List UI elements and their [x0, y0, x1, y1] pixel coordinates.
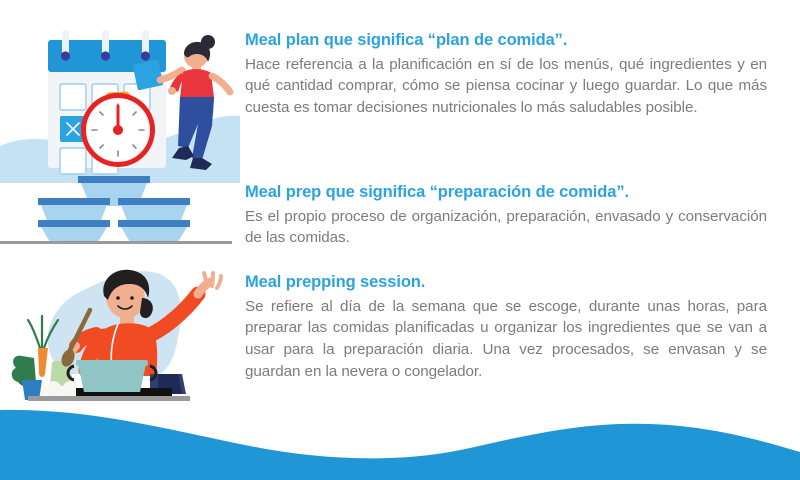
container-bottom-right [118, 220, 190, 242]
text-block-meal-plan: Meal plan que significa “plan de comida”… [245, 30, 767, 119]
eye-left [116, 296, 120, 300]
body-meal-prep: Es el propio proceso de organización, pr… [245, 206, 767, 249]
carrot [38, 348, 48, 377]
heading-meal-prep: Meal prep que significa “preparación de … [245, 182, 767, 204]
raised-hand [204, 273, 221, 288]
text-block-meal-prep: Meal prep que significa “preparación de … [245, 182, 767, 249]
woman-cooking-pot-vegetables-illustration [0, 262, 240, 412]
blue-card [133, 60, 164, 91]
infographic-page: Meal plan que significa “plan de comida”… [0, 0, 800, 480]
eye-right [130, 296, 134, 300]
bottom-wave-decoration [0, 400, 800, 480]
wave-shape [0, 410, 800, 480]
calendar-stopwatch-woman-illustration [0, 18, 240, 183]
cooking-pot [78, 364, 146, 392]
heading-meal-prepping-session: Meal prepping session. [245, 272, 767, 294]
body-meal-plan: Hace referencia a la planificación en sí… [245, 54, 767, 119]
heading-meal-plan: Meal plan que significa “plan de comida”… [245, 30, 767, 52]
body-meal-prepping-session: Se refiere al día de la semana que se es… [245, 296, 767, 382]
text-block-meal-prepping-session: Meal prepping session. Se refiere al día… [245, 272, 767, 382]
shelf-line [0, 241, 232, 244]
stacked-food-containers-illustration [0, 172, 240, 250]
container-bottom-left [38, 220, 110, 242]
